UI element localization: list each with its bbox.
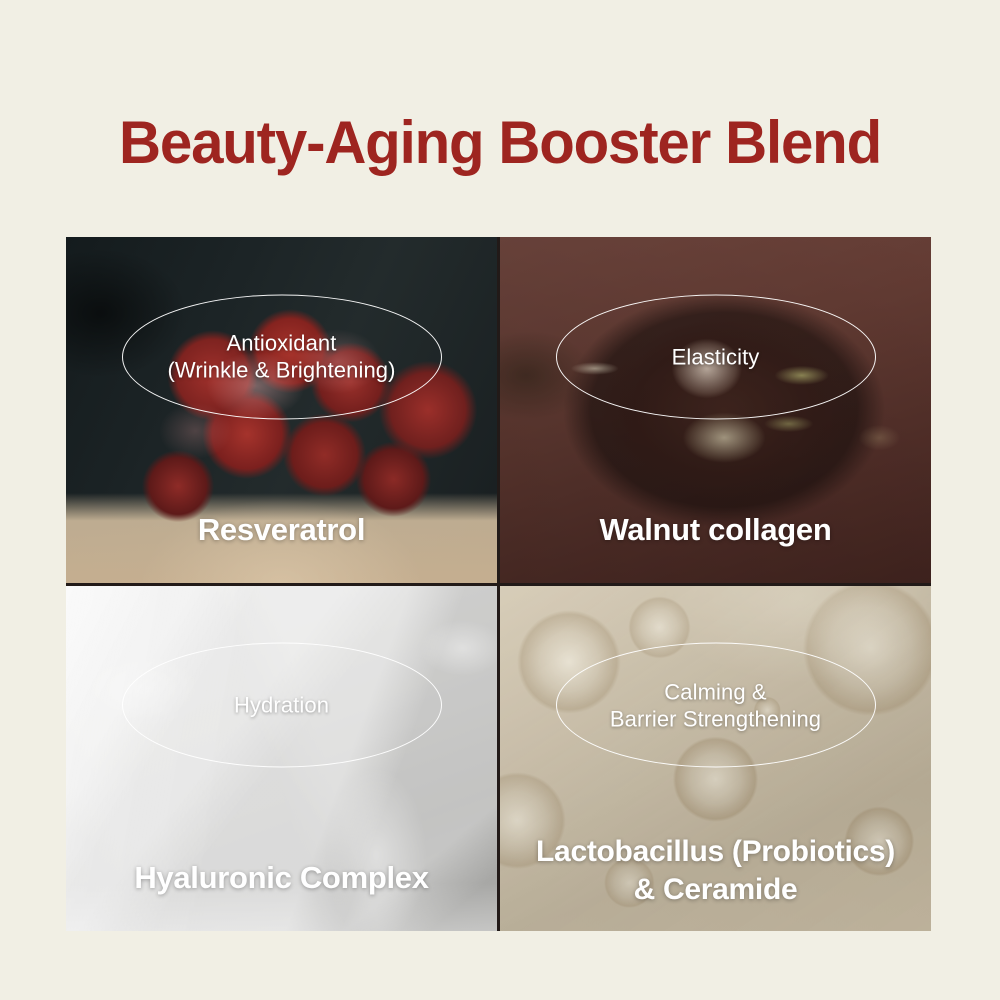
ingredient-card-resveratrol[interactable]: Antioxidant (Wrinkle & Brightening) Resv… [66,237,497,583]
benefit-callout: Antioxidant (Wrinkle & Brightening) [122,294,442,419]
benefit-label: Calming & Barrier Strengthening [610,678,821,732]
benefit-callout: Hydration [122,643,442,768]
ingredient-name-label: Resveratrol [66,511,497,549]
ingredient-card-walnut-collagen[interactable]: Elasticity Walnut collagen [500,237,931,583]
benefit-label: Elasticity [672,343,760,370]
page-title: Beauty-Aging Booster Blend [15,112,985,174]
ingredient-card-lactobacillus-ceramide[interactable]: Calming & Barrier Strengthening Lactobac… [500,586,931,932]
ingredient-name-label: Walnut collagen [500,511,931,549]
ingredient-grid: Antioxidant (Wrinkle & Brightening) Resv… [66,237,931,931]
ingredient-name-label: Hyaluronic Complex [66,859,497,897]
benefit-label: Hydration [234,692,329,719]
ingredient-name-label: Lactobacillus (Probiotics) & Ceramide [500,833,931,909]
benefit-callout: Elasticity [556,294,876,419]
product-ingredient-infographic: Beauty-Aging Booster Blend Antioxidant (… [0,0,1000,1000]
ingredient-card-hyaluronic-complex[interactable]: Hydration Hyaluronic Complex [66,586,497,932]
benefit-callout: Calming & Barrier Strengthening [556,643,876,768]
benefit-label: Antioxidant (Wrinkle & Brightening) [167,330,395,384]
